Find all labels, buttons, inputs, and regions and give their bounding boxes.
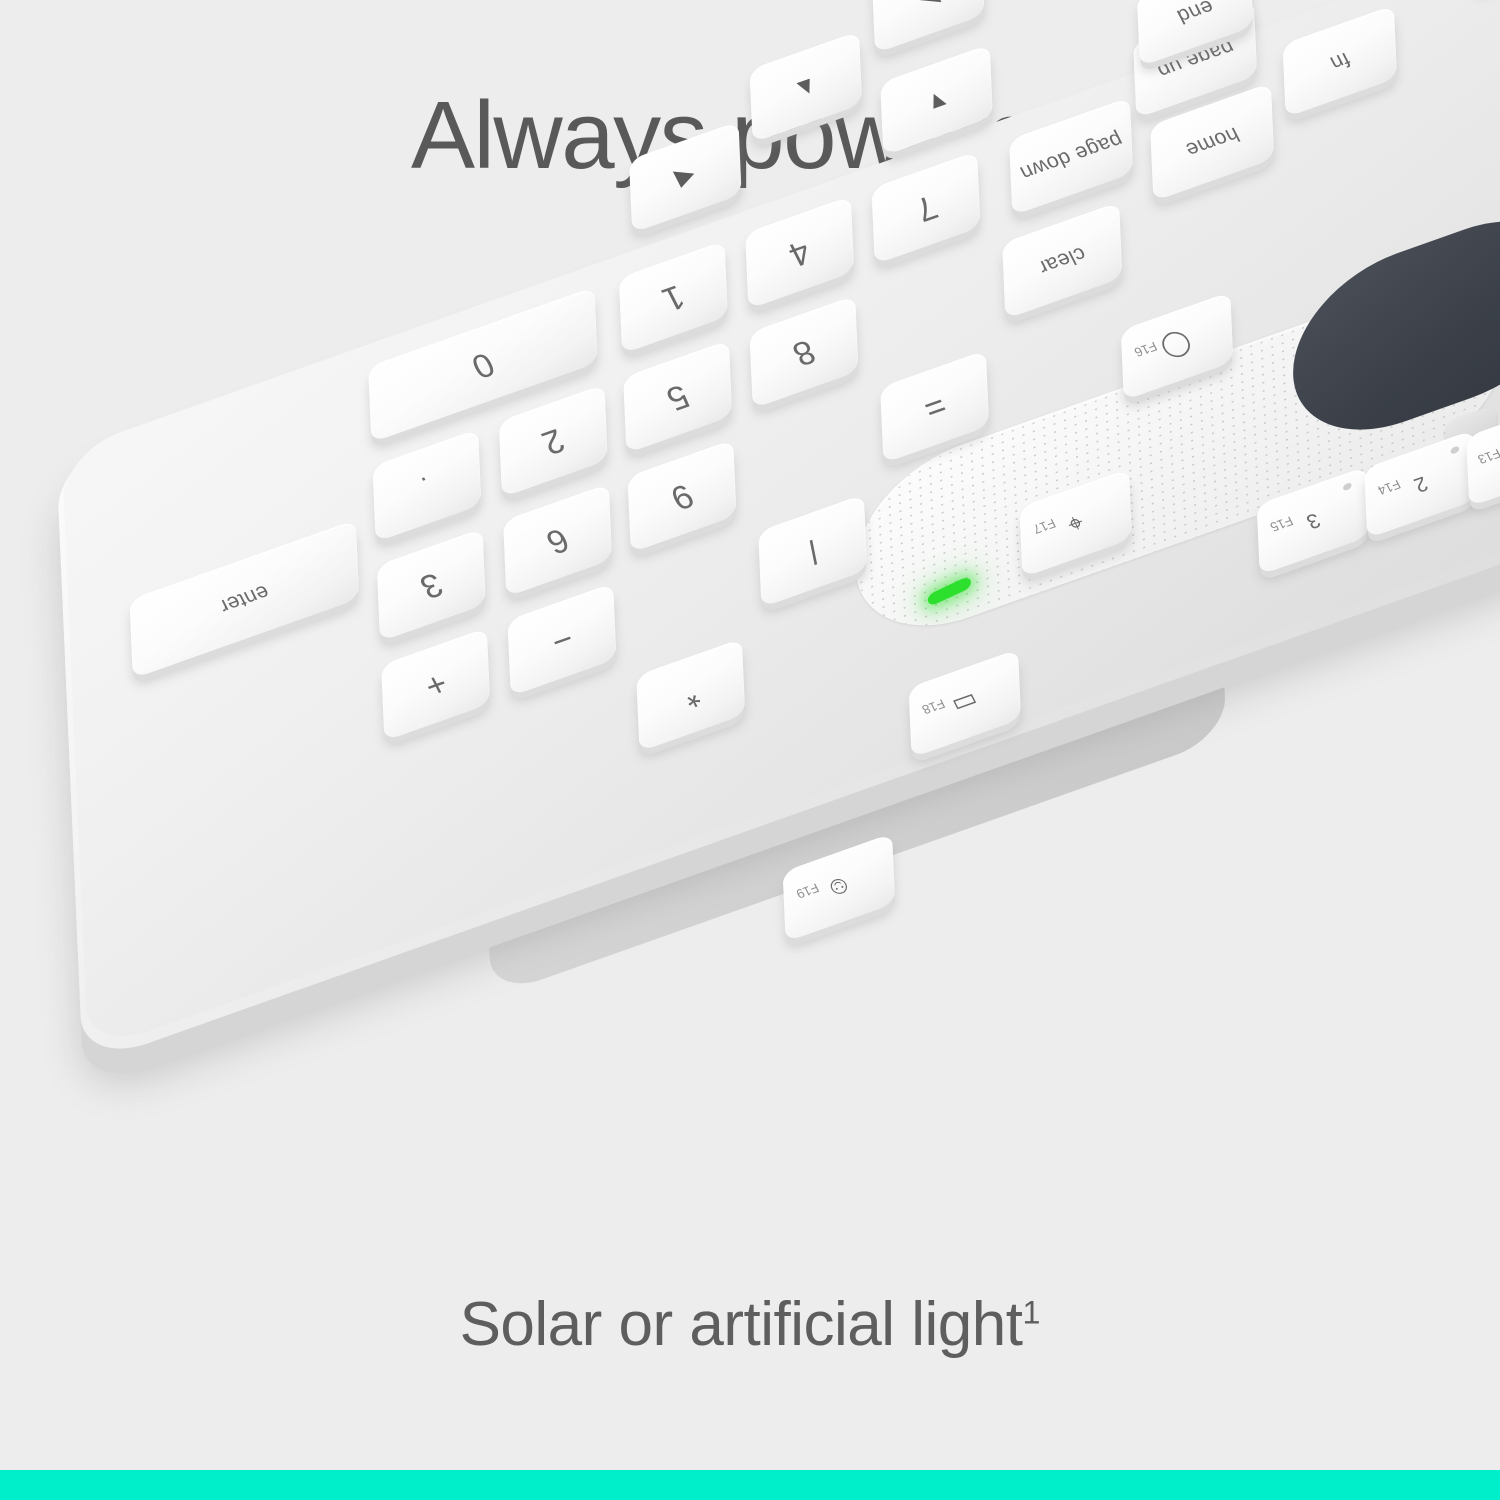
status-led-indicator (927, 576, 973, 607)
keyboard-product-illustration: enter . 0 1 2 3 4 5 6 7 8 (0, 180, 1500, 1240)
page-subtitle: Solar or artificial light1 (0, 1292, 1500, 1357)
footnote-marker: 1 (1023, 1294, 1041, 1330)
easy-switch-led-2 (1450, 445, 1459, 455)
product-marketing-image: Always powered enter . 0 1 2 (0, 0, 1500, 1500)
easy-switch-led-3 (1343, 482, 1352, 492)
arrow-right-key[interactable]: ▶ (872, 0, 985, 53)
caption-text: Solar or artificial light (460, 1290, 1023, 1359)
brand-accent-bar (0, 1470, 1500, 1500)
